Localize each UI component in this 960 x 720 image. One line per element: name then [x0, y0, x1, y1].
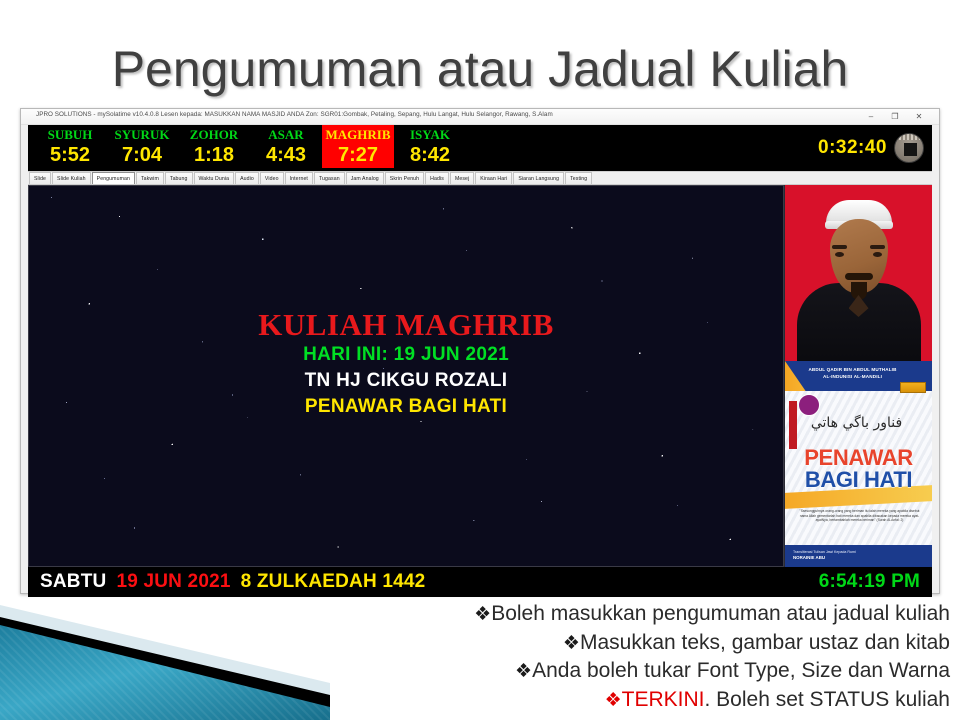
prayer-time: 7:04: [106, 142, 178, 168]
kuliah-topic: PENAWAR BAGI HATI: [29, 394, 783, 420]
moustache: [845, 273, 873, 280]
tab-jam-analog[interactable]: Jam Analog: [346, 172, 384, 184]
side-panel: ABDUL QADIR BIN ABDUL MUTHALIB AL-INDUNI…: [784, 185, 932, 567]
publisher-logo: [900, 382, 926, 393]
starfield-background: KULIAH MAGHRIB HARI INI: 19 JUN 2021 TN …: [28, 185, 784, 567]
tab-slide-kuliah[interactable]: Slide Kuliah: [52, 172, 91, 184]
countdown-group: 0:32:40: [818, 133, 924, 163]
eyebrow-left: [832, 245, 847, 249]
bullet-marker-icon: ❖: [563, 633, 580, 654]
ustaz-portrait-image: [785, 185, 932, 361]
gregorian-date: 19 JUN 2021: [116, 571, 230, 593]
prayer-name: ISYAK: [394, 127, 466, 142]
prayer-name: ZOHOR: [178, 127, 250, 142]
prayer-time: 7:27: [322, 142, 394, 168]
prayer-times-bar: SUBUH5:52SYURUK7:04ZOHOR1:18ASAR4:43MAGH…: [28, 125, 932, 171]
prayer-times-row: SUBUH5:52SYURUK7:04ZOHOR1:18ASAR4:43MAGH…: [34, 125, 466, 168]
tab-takwim[interactable]: Takwim: [136, 172, 164, 184]
tab-waktu-dunia[interactable]: Waktu Dunia: [194, 172, 235, 184]
bullet-item: ❖TERKINI. Boleh set STATUS kuliah: [300, 686, 950, 715]
bullet-highlight-text: TERKINI: [622, 688, 705, 711]
tab-hadis[interactable]: Hadis: [425, 172, 449, 184]
prayer-time: 8:42: [394, 142, 466, 168]
display-canvas: KULIAH MAGHRIB HARI INI: 19 JUN 2021 TN …: [28, 185, 932, 567]
decorative-corner: [0, 595, 330, 720]
prayer-cell-asar: ASAR4:43: [250, 125, 322, 168]
tab-internet[interactable]: Internet: [285, 172, 313, 184]
kuliah-heading: KULIAH MAGHRIB: [29, 308, 783, 342]
book-seal-badge: [798, 394, 820, 416]
hijri-date: 8 ZULKAEDAH 1442: [241, 571, 426, 593]
prayer-time: 5:52: [34, 142, 106, 168]
bullet-text: Anda boleh tukar Font Type, Size dan War…: [532, 659, 950, 682]
book-translator: Transliterasi Tulisan Jawi Kepada Rumi N…: [793, 550, 856, 561]
eye-left: [835, 252, 844, 257]
prayer-name: SYURUK: [106, 127, 178, 142]
bullet-text: Boleh masukkan pengumuman atau jadual ku…: [491, 602, 950, 625]
app-window: JPRO SOLUTIONS - mySolatime v10.4.0.8 Le…: [20, 108, 940, 594]
bullet-text: . Boleh set STATUS kuliah: [705, 688, 951, 711]
tab-audio[interactable]: Audio: [235, 172, 259, 184]
minimize-icon[interactable]: –: [861, 110, 881, 124]
book-title-line2: BAGI HATI: [785, 467, 932, 493]
date-group: SABTU 19 JUN 2021 8 ZULKAEDAH 1442: [28, 571, 425, 593]
bullet-text: Masukkan teks, gambar ustaz dan kitab: [580, 631, 950, 654]
tab-tugasan[interactable]: Tugasan: [314, 172, 345, 184]
tab-testing[interactable]: Testing: [565, 172, 592, 184]
tab-video[interactable]: Video: [260, 172, 284, 184]
bullet-item: ❖Masukkan teks, gambar ustaz dan kitab: [300, 629, 950, 658]
prayer-cell-maghrib: MAGHRIB7:27: [322, 125, 394, 168]
window-title-text: JPRO SOLUTIONS - mySolatime v10.4.0.8 Le…: [36, 111, 553, 118]
bullet-item: ❖Anda boleh tukar Font Type, Size dan Wa…: [300, 657, 950, 686]
bullet-marker-icon: ❖: [605, 690, 622, 711]
page-title: Pengumuman atau Jadual Kuliah: [0, 40, 960, 98]
bullet-list: ❖Boleh masukkan pengumuman atau jadual k…: [300, 600, 950, 714]
book-arabic-title: فناور باگي هاتي: [785, 415, 928, 431]
prayer-time: 1:18: [178, 142, 250, 168]
book-author-line1: ABDUL QADIR BIN ABDUL MUTHALIB: [808, 367, 896, 372]
kuliah-date: HARI INI: 19 JUN 2021: [29, 342, 783, 368]
prayer-name: ASAR: [250, 127, 322, 142]
maximize-icon[interactable]: ❐: [885, 110, 905, 124]
tab-mesej[interactable]: Mesej: [450, 172, 474, 184]
tab-kiraan-hari[interactable]: Kiraan Hari: [475, 172, 512, 184]
book-author-line2: AL-INDUNISI AL-MANDILI: [823, 374, 882, 379]
translator-name: NORAINIE ABU: [793, 555, 825, 560]
bullet-marker-icon: ❖: [515, 661, 532, 682]
bullet-marker-icon: ❖: [474, 604, 491, 625]
prayer-name: MAGHRIB: [322, 127, 394, 142]
book-quote: "Ssesungguhnya orang-orang yang beriman …: [797, 509, 922, 523]
window-titlebar: JPRO SOLUTIONS - mySolatime v10.4.0.8 Le…: [21, 109, 939, 125]
countdown-timer: 0:32:40: [818, 137, 887, 159]
book-author: ABDUL QADIR BIN ABDUL MUTHALIB AL-INDUNI…: [799, 366, 906, 380]
book-cover-image: ABDUL QADIR BIN ABDUL MUTHALIB AL-INDUNI…: [785, 361, 932, 567]
tab-tabung[interactable]: Tabung: [165, 172, 193, 184]
prayer-cell-subuh: SUBUH5:52: [34, 125, 106, 168]
prayer-cell-syuruk: SYURUK7:04: [106, 125, 178, 168]
date-status-bar: SABTU 19 JUN 2021 8 ZULKAEDAH 1442 6:54:…: [28, 567, 932, 597]
tab-strip[interactable]: SlideSlide KuliahPengumumanTakwimTabungW…: [28, 171, 932, 185]
tab-pengumuman[interactable]: Pengumuman: [92, 172, 135, 184]
day-name: SABTU: [40, 571, 106, 593]
tab-slide[interactable]: Slide: [29, 172, 51, 184]
clock-time: 6:54:19 PM: [819, 571, 920, 593]
prayer-cell-isyak: ISYAK8:42: [394, 125, 466, 168]
prayer-time: 4:43: [250, 142, 322, 168]
bullet-item: ❖Boleh masukkan pengumuman atau jadual k…: [300, 600, 950, 629]
eye-right: [873, 252, 882, 257]
kaaba-icon: [894, 133, 924, 163]
prayer-cell-zohor: ZOHOR1:18: [178, 125, 250, 168]
kuliah-speaker: TN HJ CIKGU ROZALI: [29, 368, 783, 394]
tab-siaran-langsung[interactable]: Siaran Langsung: [513, 172, 564, 184]
prayer-name: SUBUH: [34, 127, 106, 142]
kuliah-text-block: KULIAH MAGHRIB HARI INI: 19 JUN 2021 TN …: [29, 308, 783, 420]
translator-label: Transliterasi Tulisan Jawi Kepada Rumi: [793, 550, 856, 554]
tab-skrin-penuh[interactable]: Skrin Penuh: [385, 172, 424, 184]
eyebrow-right: [870, 245, 885, 249]
close-icon[interactable]: ✕: [909, 110, 929, 124]
